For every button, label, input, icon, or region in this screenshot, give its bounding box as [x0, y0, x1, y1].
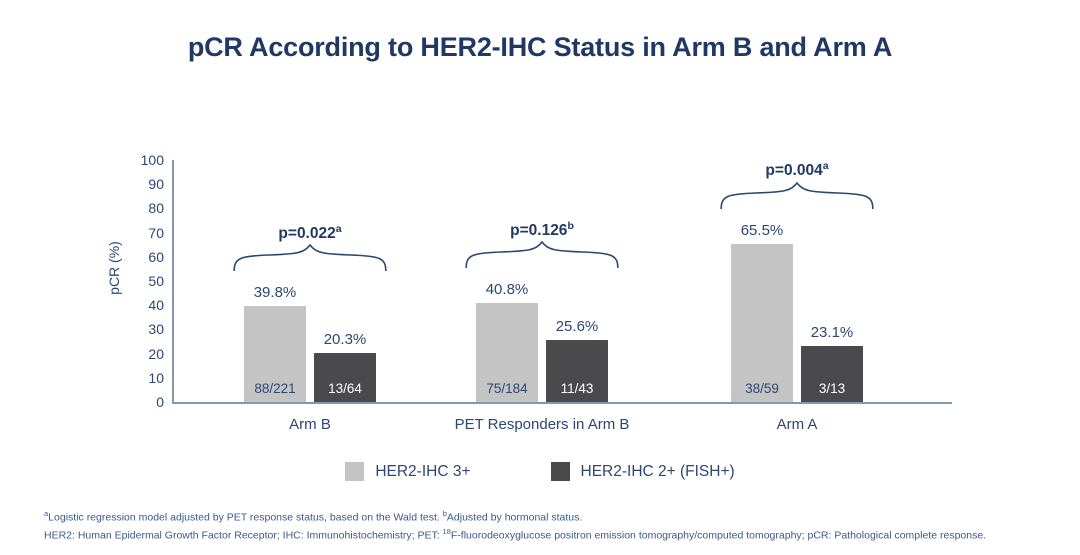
bar-her2-ihc-2plus-fish[interactable]: 23.1%3/13	[801, 346, 863, 402]
bar-value-label: 65.5%	[717, 222, 807, 239]
legend-swatch-dark	[551, 462, 570, 481]
bar-fraction-label: 3/13	[801, 381, 863, 396]
p-value-text: p=0.004	[765, 163, 822, 180]
footnote-line-1: aLogistic regression model adjusted by P…	[44, 508, 1054, 526]
y-axis-tick: 30	[124, 322, 164, 336]
y-axis-title: pCR (%)	[106, 208, 122, 328]
significance-brace	[231, 244, 389, 272]
p-value-text: p=0.126	[510, 222, 567, 239]
y-axis-tick: 10	[124, 371, 164, 385]
legend-item-her2-ihc-3plus: HER2-IHC 3+	[345, 462, 470, 481]
bar-her2-ihc-3plus[interactable]: 65.5%38/59	[731, 244, 793, 403]
footnote-line-2-text-1: HER2: Human Epidermal Growth Factor Rece…	[44, 529, 443, 541]
footnotes: aLogistic regression model adjusted by P…	[44, 508, 1054, 544]
x-axis-category-label: PET Responders in Arm B	[402, 416, 682, 433]
p-value-label: p=0.126b	[462, 220, 622, 240]
p-value-superscript: a	[823, 160, 829, 172]
p-value-superscript: a	[336, 223, 342, 235]
p-value-superscript: b	[567, 220, 573, 232]
y-axis-tick: 0	[124, 395, 164, 409]
significance-brace	[718, 182, 876, 210]
p-value-text: p=0.022	[278, 225, 335, 242]
y-axis-tick: 40	[124, 298, 164, 312]
x-axis-line	[172, 402, 952, 404]
p-value-label: p=0.022a	[230, 223, 390, 243]
p-value-label: p=0.004a	[717, 160, 877, 180]
legend-label-light: HER2-IHC 3+	[375, 463, 470, 481]
chart-plot-area: pCR (%) 1009080706050403020100 39.8%88/2…	[172, 160, 952, 402]
footnote-line-2-text-2: F-fluorodeoxyglucose positron emission t…	[451, 529, 986, 541]
legend-item-her2-ihc-2plus-fish: HER2-IHC 2+ (FISH+)	[551, 462, 735, 481]
x-axis-category-label: Arm A	[657, 416, 937, 433]
y-axis-tick: 60	[124, 250, 164, 264]
bar-fraction-label: 38/59	[731, 381, 793, 396]
significance-brace	[463, 241, 621, 269]
footnote-line-1-text-2: Adjusted by hormonal status.	[447, 512, 582, 524]
footnote-isotope-superscript: 18	[443, 527, 451, 536]
y-axis-tick: 90	[124, 177, 164, 191]
y-axis-tick: 50	[124, 274, 164, 288]
y-axis-tick: 100	[124, 153, 164, 167]
footnote-line-1-text-1: Logistic regression model adjusted by PE…	[48, 512, 443, 524]
chart-legend: HER2-IHC 3+ HER2-IHC 2+ (FISH+)	[0, 462, 1080, 481]
bar-value-label: 23.1%	[787, 324, 877, 341]
y-axis-tick: 20	[124, 347, 164, 361]
legend-label-dark: HER2-IHC 2+ (FISH+)	[581, 463, 735, 481]
y-axis-tick: 70	[124, 226, 164, 240]
page-title: pCR According to HER2-IHC Status in Arm …	[0, 32, 1080, 63]
slide-root: pCR According to HER2-IHC Status in Arm …	[0, 0, 1080, 555]
legend-swatch-light	[345, 462, 364, 481]
footnote-line-2: HER2: Human Epidermal Growth Factor Rece…	[44, 526, 1054, 544]
y-axis-tick: 80	[124, 201, 164, 215]
